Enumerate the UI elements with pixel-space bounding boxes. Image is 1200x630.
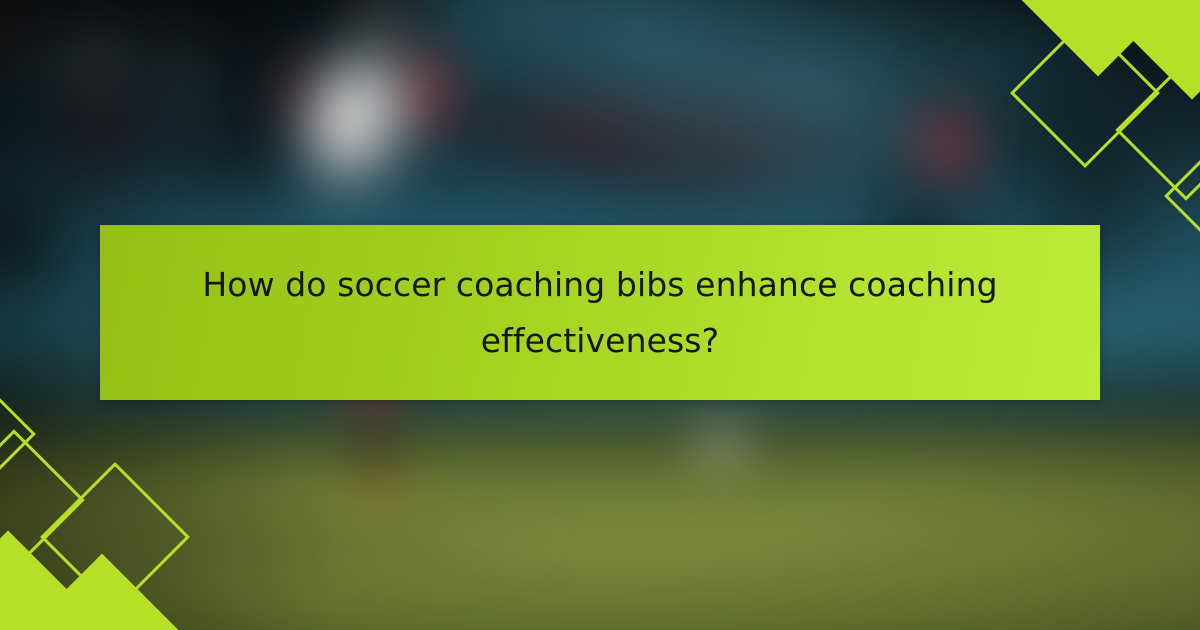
page-title: How do soccer coaching bibs enhance coac… xyxy=(170,257,1030,368)
banner-canvas: How do soccer coaching bibs enhance coac… xyxy=(0,0,1200,630)
headline-banner: How do soccer coaching bibs enhance coac… xyxy=(100,225,1100,400)
